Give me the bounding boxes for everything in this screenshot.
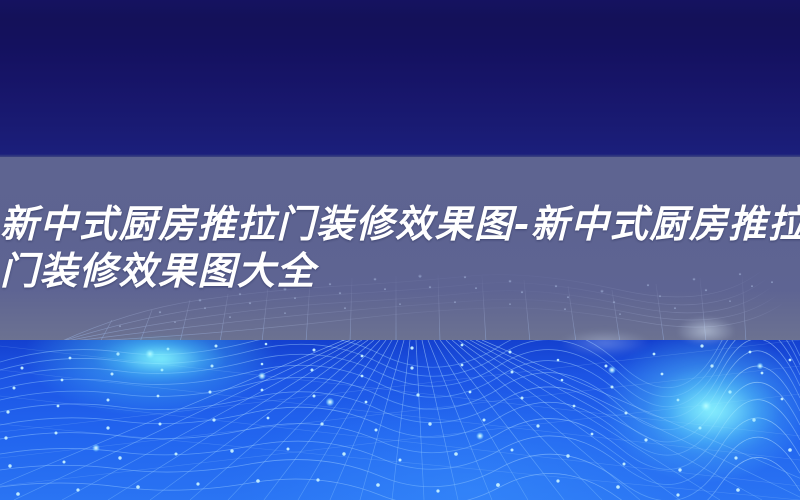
mesh-wireframe-graphic <box>0 340 800 500</box>
wireframe-mesh-field <box>0 340 800 500</box>
banner-image: 新中式厨房推拉门装修效果图-新中式厨房推拉门装修效果图大全 <box>0 0 800 500</box>
slate-band-layer <box>0 157 800 341</box>
sky-gradient-layer <box>0 0 800 157</box>
